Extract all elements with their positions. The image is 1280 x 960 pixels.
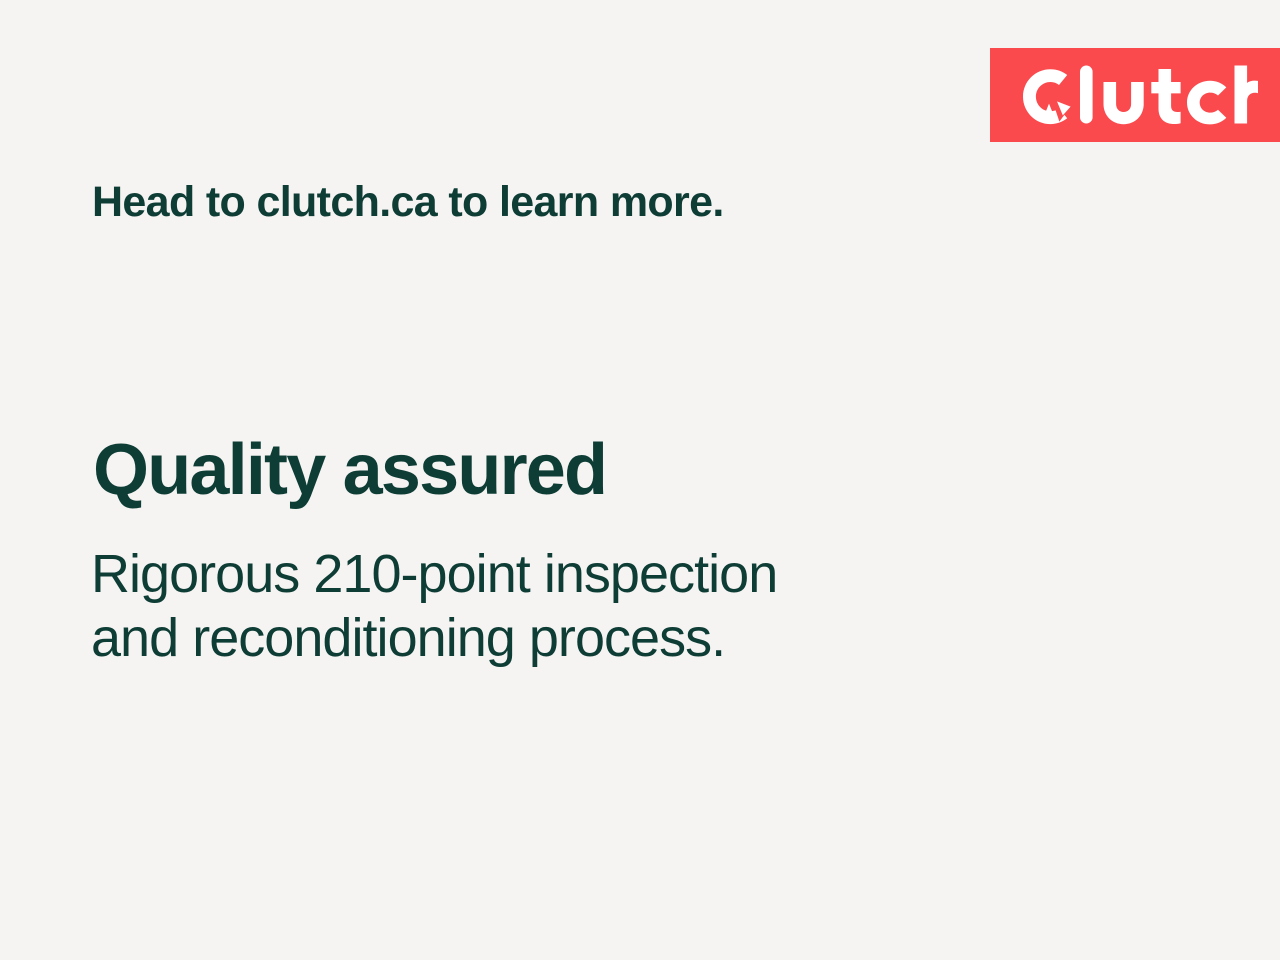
promo-slide: Head to clutch.ca to learn more. Quality…	[0, 0, 1280, 960]
subheadline: Rigorous 210-point inspection and recond…	[91, 543, 777, 670]
subheadline-line-2: and reconditioning process.	[91, 607, 777, 671]
clutch-wordmark	[1018, 48, 1258, 142]
page-title: Quality assured	[93, 434, 606, 507]
clutch-logo-icon	[1018, 63, 1258, 127]
subheadline-line-1: Rigorous 210-point inspection	[91, 543, 777, 607]
cta-text: Head to clutch.ca to learn more.	[92, 179, 724, 225]
brand-badge	[990, 48, 1280, 142]
